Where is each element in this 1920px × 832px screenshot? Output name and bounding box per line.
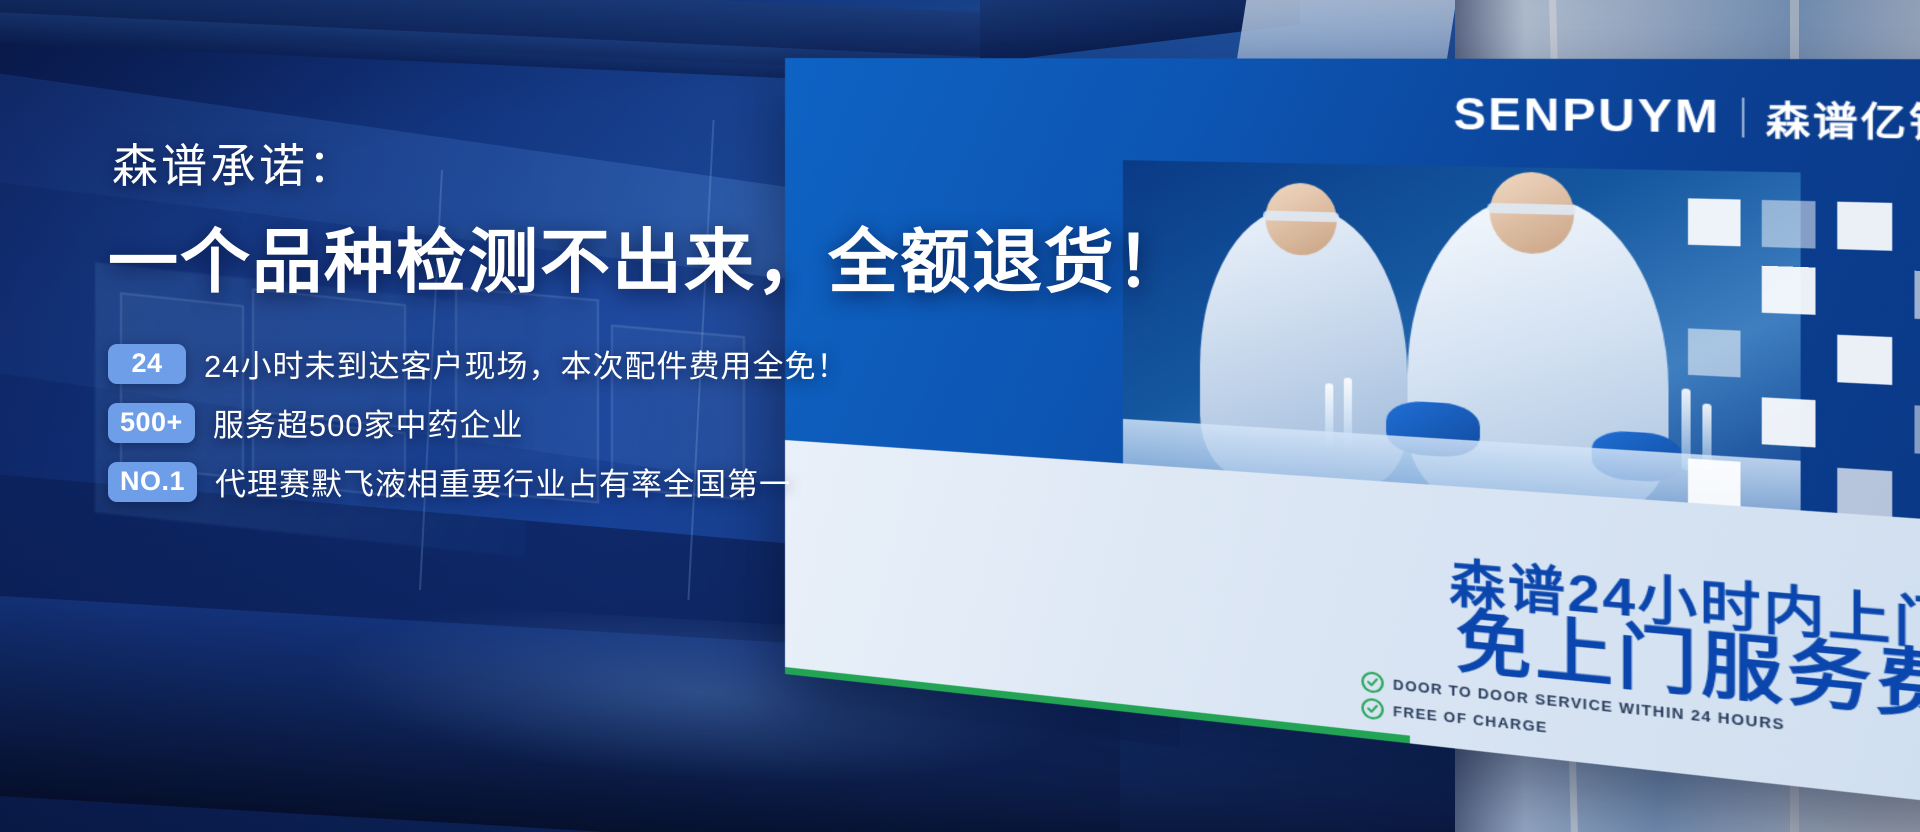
benefit-list: 24 24小时未到达客户现场，本次配件费用全免！ 500+ 服务超500家中药企… [108, 341, 1118, 504]
logo-divider [1742, 98, 1745, 138]
logo-en-text: SENPUYM [1453, 89, 1720, 143]
status-badge: 500+ [108, 403, 195, 443]
page-title: 一个品种检测不出来，全额退货！ [108, 206, 1118, 307]
poster-logo: SENPUYM 森谱亿铭 [1453, 88, 1920, 149]
list-item-label: 代理赛默飞液相重要行业占有率全国第一 [215, 459, 791, 504]
banner-stage: SENPUYM 森谱亿铭 森谱24小时内上门 免上门服务费 DOOR TO DO… [0, 0, 1920, 832]
list-item: 24 24小时未到达客户现场，本次配件费用全免！ [108, 341, 1118, 386]
list-item: 500+ 服务超500家中药企业 [108, 400, 1118, 445]
status-badge: 24 [108, 344, 186, 384]
eyebrow-text: 森谱承诺： [112, 130, 1118, 196]
list-item: NO.1 代理赛默飞液相重要行业占有率全国第一 [108, 459, 1118, 504]
check-circle-icon [1361, 697, 1383, 720]
status-badge: NO.1 [108, 462, 197, 502]
logo-cn-text: 森谱亿铭 [1766, 90, 1920, 149]
marketing-copy: 森谱承诺： 一个品种检测不出来，全额退货！ 24 24小时未到达客户现场，本次配… [108, 130, 1118, 504]
list-item-label: 服务超500家中药企业 [213, 400, 524, 445]
check-circle-icon [1361, 671, 1383, 694]
list-item-label: 24小时未到达客户现场，本次配件费用全免！ [204, 341, 848, 386]
